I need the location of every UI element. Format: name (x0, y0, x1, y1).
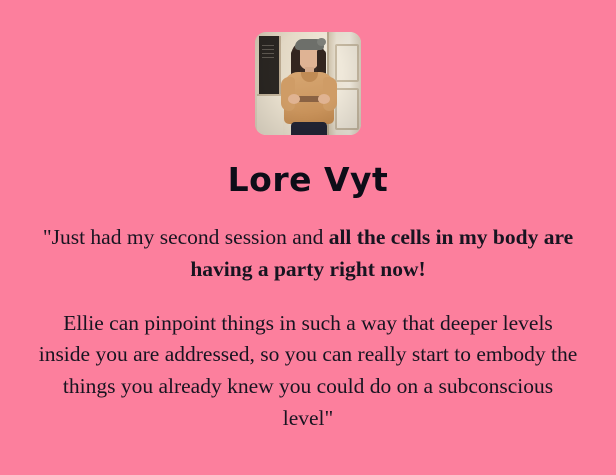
testimonial-text: "Just had my second session and all the … (35, 222, 581, 435)
avatar (255, 32, 361, 135)
testimonial-lead-regular: "Just had my second session and (43, 225, 329, 249)
photo-vignette (255, 32, 361, 135)
testimonial-body: Ellie can pinpoint things in such a way … (35, 308, 581, 435)
testimonial-lead: "Just had my second session and all the … (35, 222, 581, 286)
testimonial-card: Lore Vyt "Just had my second session and… (0, 0, 616, 475)
page-title: Lore Vyt (228, 163, 389, 196)
